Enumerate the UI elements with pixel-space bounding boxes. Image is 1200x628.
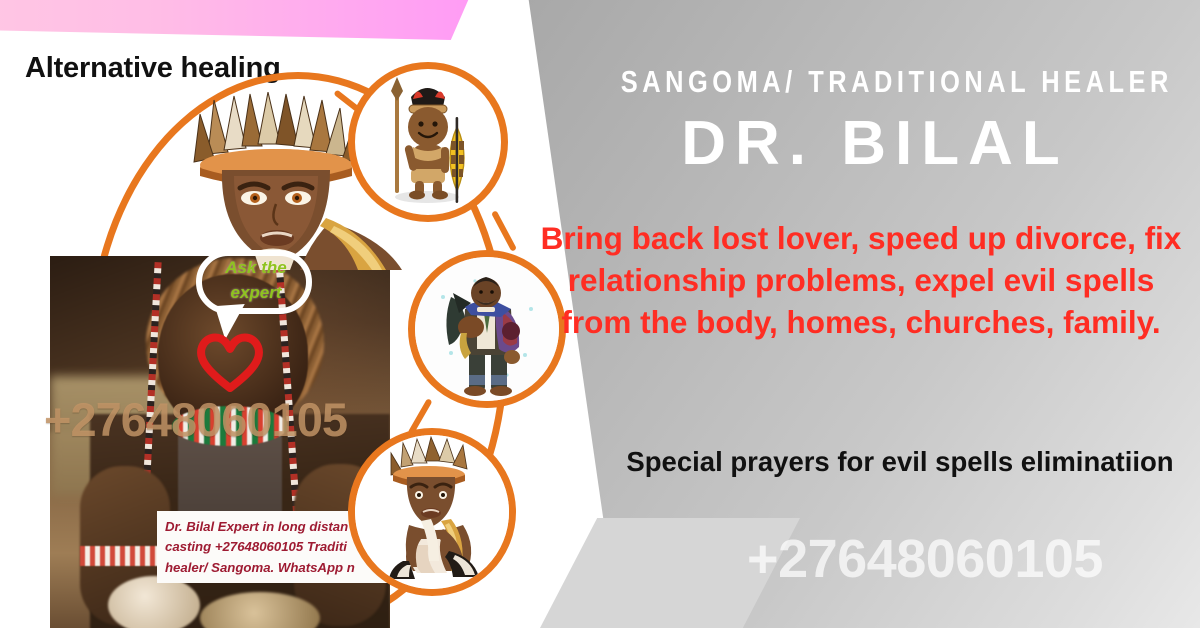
page-title: Alternative healing <box>25 52 281 85</box>
top-pink-band <box>0 0 470 40</box>
healer-name: DR. BILAL <box>565 108 1185 179</box>
zulu-warrior-cartoon-icon <box>355 69 501 215</box>
kicker-title: SANGOMA/ TRADITIONAL HEALER <box>621 64 1129 100</box>
services-copy: Bring back lost lover, speed up divorce,… <box>536 218 1186 344</box>
special-prayers-copy: Special prayers for evil spells eliminat… <box>620 444 1180 480</box>
circle-crouching-warrior <box>348 428 516 596</box>
circle-zulu-warrior <box>348 62 508 222</box>
poster-canvas: Alternative healing +27648060105 <box>0 0 1200 628</box>
crouching-warrior-icon <box>355 435 509 589</box>
heart-icon <box>194 330 266 392</box>
connector-circle1-to-circle2 <box>491 210 517 252</box>
panel-watermark-phone: +27648060105 <box>660 528 1190 590</box>
ask-the-expert-label: Ask the expert <box>204 256 308 305</box>
